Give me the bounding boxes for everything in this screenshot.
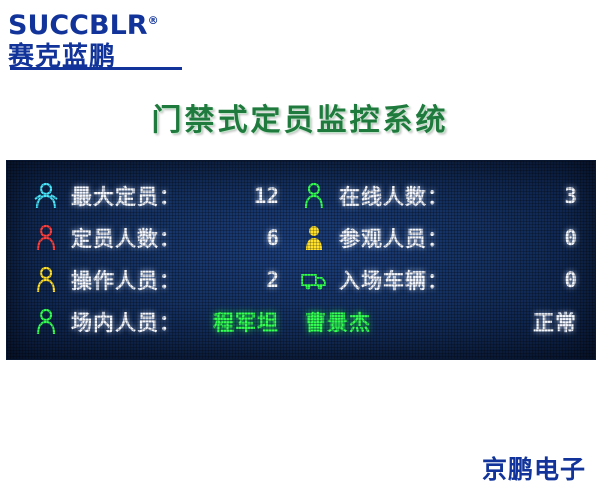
led-value-staff-quota: 6 <box>266 226 297 250</box>
person-green-icon <box>301 182 327 210</box>
led-label-online-count: 在线人数： <box>339 181 449 211</box>
person-yellow-icon <box>33 266 59 294</box>
led-label-vehicles: 入场车辆： <box>339 265 449 295</box>
led-row: 操作人员： 2 入场车辆： 0 <box>7 259 595 301</box>
led-label-onsite-personnel: 场内人员： <box>71 307 181 337</box>
led-value-operators: 2 <box>266 268 297 292</box>
led-value-vehicles: 0 <box>564 268 595 292</box>
page-title: 门禁式定员监控系统 <box>0 95 600 139</box>
led-label-operators: 操作人员： <box>71 265 181 295</box>
logo-latin-part1: SUCCBLR <box>8 10 148 41</box>
list-item: 程军坦 <box>213 307 279 337</box>
led-field-vehicles: 入场车辆： 0 <box>297 259 595 301</box>
led-field-operators: 操作人员： 2 <box>7 259 297 301</box>
led-field-onsite-personnel: 场内人员： 程军坦 曹景杰 正常 <box>7 301 595 343</box>
person-red-icon <box>33 224 59 252</box>
logo-latin-text: SUCCBLR® <box>8 6 218 41</box>
list-item: 曹景杰 <box>305 307 371 337</box>
led-value-online-count: 3 <box>564 184 595 208</box>
registered-trademark-icon: ® <box>148 14 159 27</box>
led-row: 定员人数： 6 参观人员： 0 <box>7 217 595 259</box>
person-green-icon <box>33 308 59 336</box>
logo-underline-divider <box>10 67 182 70</box>
led-value-max-capacity: 12 <box>254 184 297 208</box>
status-badge: 正常 <box>533 307 595 337</box>
led-value-visitors: 0 <box>564 226 595 250</box>
led-label-visitors: 参观人员： <box>339 223 449 253</box>
onsite-personnel-names: 程军坦 曹景杰 <box>213 307 371 337</box>
company-logo: SUCCBLR® 赛克蓝鹏 <box>8 6 218 68</box>
person-cyan-icon <box>33 182 59 210</box>
led-label-staff-quota: 定员人数： <box>71 223 181 253</box>
led-rows-container: 最大定员： 12 在线人数： 3 <box>7 175 595 343</box>
footer-brand: 京鹏电子 <box>482 450 586 486</box>
led-field-staff-quota: 定员人数： 6 <box>7 217 297 259</box>
led-field-visitors: 参观人员： 0 <box>297 217 595 259</box>
led-field-max-capacity: 最大定员： 12 <box>7 175 297 217</box>
person-yellow-icon <box>301 224 327 252</box>
led-display-panel: 最大定员： 12 在线人数： 3 <box>6 160 596 360</box>
led-field-online-count: 在线人数： 3 <box>297 175 595 217</box>
truck-green-icon <box>301 266 327 294</box>
led-row: 最大定员： 12 在线人数： 3 <box>7 175 595 217</box>
led-label-max-capacity: 最大定员： <box>71 181 181 211</box>
